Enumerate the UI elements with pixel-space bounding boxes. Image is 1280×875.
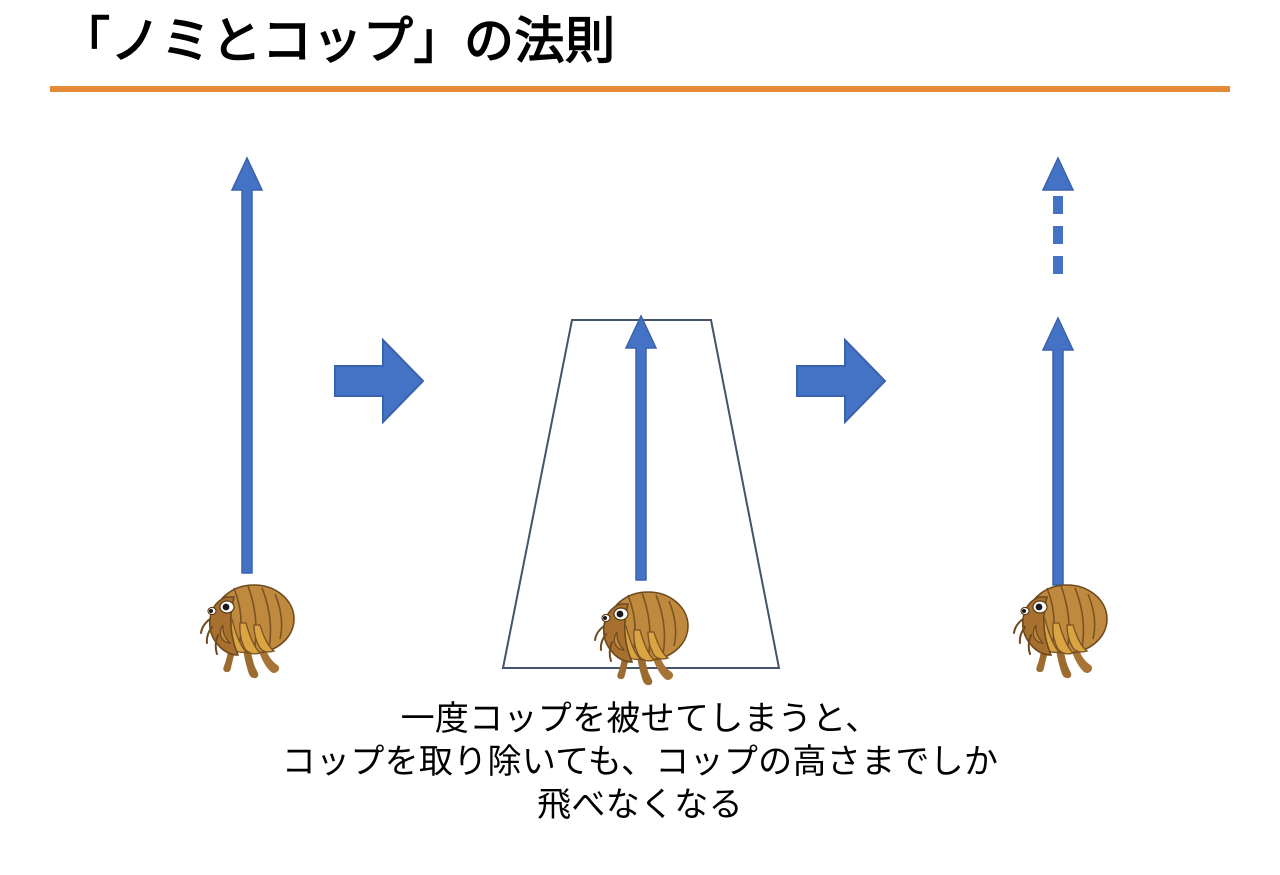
transition-arrow-2	[795, 338, 887, 424]
caption-line-2: コップを取り除いても、コップの高さまでしか	[0, 741, 1280, 784]
slide-canvas: 「ノミとコップ」の法則	[0, 0, 1280, 875]
caption-line-3: 飛べなくなる	[0, 784, 1280, 827]
jump-arrow-limited	[626, 316, 656, 580]
stage-after-cup-removed	[1010, 150, 1125, 680]
stage-with-cup	[495, 310, 790, 680]
flea-illustration	[1014, 585, 1107, 678]
page-title: 「ノミとコップ」の法則	[60, 10, 616, 72]
jump-arrow-limited	[1043, 318, 1073, 585]
flea-illustration	[201, 585, 294, 678]
jump-arrow-tall	[232, 158, 262, 573]
stage-before-cup	[200, 150, 310, 680]
potential-jump-arrow-dashed	[1043, 158, 1073, 284]
title-underline-rule	[50, 86, 1230, 92]
caption-block: 一度コップを被せてしまうと、 コップを取り除いても、コップの高さまでしか 飛べな…	[0, 698, 1280, 827]
caption-line-1: 一度コップを被せてしまうと、	[0, 698, 1280, 741]
flea-illustration	[595, 592, 688, 685]
transition-arrow-1	[333, 338, 425, 424]
